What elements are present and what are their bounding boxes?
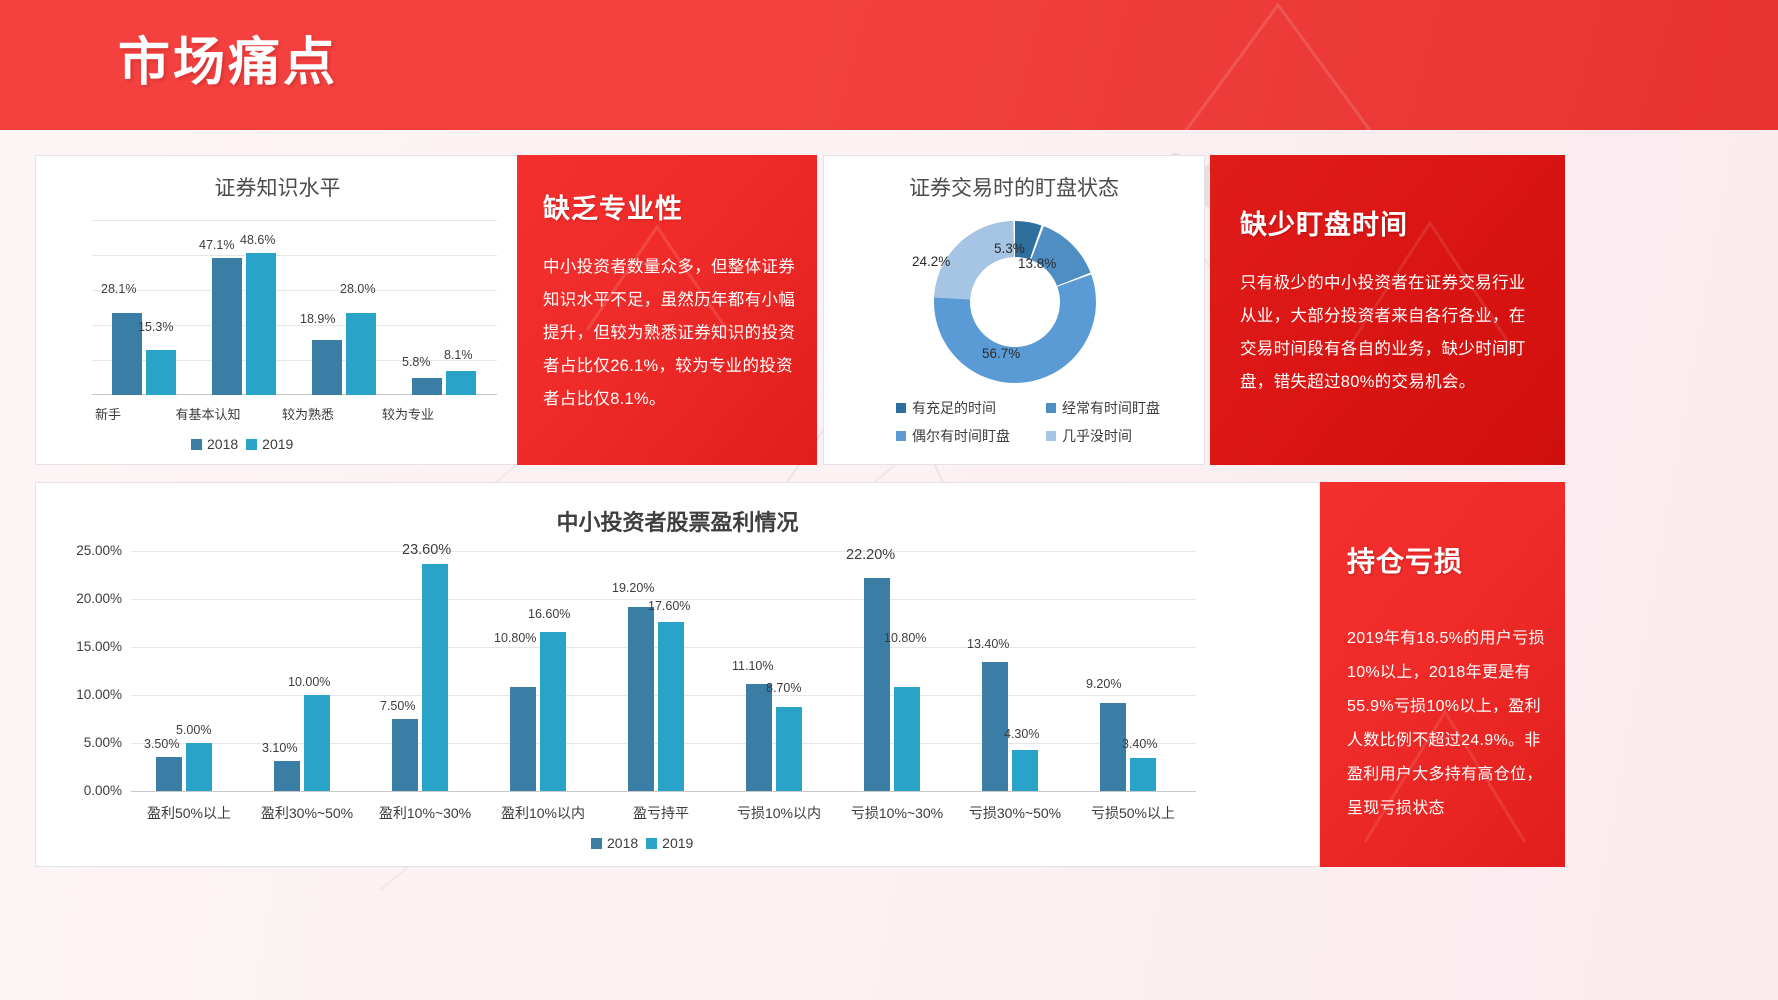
bar-2019 [246,253,276,395]
legend-swatch-icon [646,838,657,849]
bar-2018 [392,719,418,791]
bar-2018 [864,578,890,791]
panel-lack-professional: 缺乏专业性 中小投资者数量众多，但整体证券知识水平不足，虽然历年都有小幅提升，但… [517,155,817,465]
bar-label: 3.50% [144,737,179,751]
bar-label: 13.40% [967,637,1009,651]
legend-label: 2019 [662,835,693,851]
bar-label: 28.0% [340,282,375,296]
panel-title: 缺少盯盘时间 [1240,203,1408,242]
y-tick-label: 15.00% [46,639,122,654]
bar-2018 [156,757,182,791]
legend-label: 2018 [607,835,638,851]
panel-body: 中小投资者数量众多，但整体证券知识水平不足，虽然历年都有小幅提升，但较为熟悉证券… [543,251,801,416]
x-tick-label: 亏损10%以内 [720,803,838,823]
bar-label: 10.80% [494,631,536,645]
x-tick-label: 亏损30%~50% [956,803,1074,823]
bar-2019 [446,371,476,395]
x-tick-label: 有基本认知 [158,404,258,423]
legend-label: 经常有时间盯盘 [1062,398,1160,418]
chart-legend-profit-loss: 2018 2019 [591,835,693,851]
chart-legend-monitoring: 有充足的时间 经常有时间盯盘 偶尔有时间盯盘 几乎没时间 [896,398,1178,454]
bar-2019 [776,707,802,791]
x-tick-label: 盈利50%以上 [130,803,248,823]
legend-item-0[interactable]: 有充足的时间 [896,398,1028,418]
chart-card-monitoring-status: 证券交易时的盯盘状态 5.3% 13.8% 56.7% 24.2 [823,155,1205,465]
bar-2019 [346,313,376,395]
chart-title-profit-loss: 中小投资者股票盈利情况 [36,505,1319,537]
bar-2019 [1130,758,1156,791]
bar-2018 [746,684,772,791]
bar-label: 5.00% [176,723,211,737]
bar-2019 [304,695,330,791]
bar-2019 [186,743,212,791]
legend-item-3[interactable]: 几乎没时间 [1046,426,1178,446]
legend-swatch-icon [246,439,257,450]
bar-2019 [540,632,566,791]
x-tick-label: 新手 [58,404,158,423]
plot-area-profit-loss: 3.50% 5.00% 3.10% 10.00% 7.50% 23.60% 10… [131,551,1196,791]
bar-2018 [312,340,342,395]
x-tick-label: 亏损10%~30% [838,803,956,823]
bar-label: 19.20% [612,581,654,595]
chart-legend-knowledge: 2018 2019 [191,436,293,452]
legend-label: 有充足的时间 [912,398,996,418]
y-tick-label: 0.00% [46,783,122,798]
donut-value-label: 24.2% [912,254,950,269]
legend-item-2[interactable]: 偶尔有时间盯盘 [896,426,1028,446]
chart-title-knowledge: 证券知识水平 [36,172,519,202]
plot-area-knowledge: 28.1% 15.3% 47.1% 48.6% 18.9% 28.0% 5.8%… [92,220,497,395]
legend-label: 2019 [262,436,293,452]
x-tick-label: 盈利10%~30% [366,803,484,823]
x-tick-label: 较为专业 [358,404,458,423]
panel-body: 只有极少的中小投资者在证券交易行业从业，大部分投资者来自各行各业，在交易时间段有… [1240,267,1540,399]
bar-label: 47.1% [199,238,234,252]
y-tick-label: 5.00% [46,735,122,750]
legend-item-2018[interactable]: 2018 [191,436,238,452]
chart-card-profit-loss: 中小投资者股票盈利情况 3.50% 5.00% 3.10% 10.00% 7.5… [35,482,1320,867]
donut-chart-overlay [925,212,1105,392]
legend-swatch-icon [1046,431,1056,441]
legend-swatch-icon [591,838,602,849]
x-tick-label: 盈亏持平 [602,803,720,823]
donut-value-label: 56.7% [982,346,1020,361]
bar-2019 [894,687,920,791]
page-title: 市场痛点 [118,20,338,95]
legend-label: 几乎没时间 [1062,426,1132,446]
x-tick-label: 盈利10%以内 [484,803,602,823]
bar-label: 8.1% [444,348,473,362]
panel-lack-time: 缺少盯盘时间 只有极少的中小投资者在证券交易行业从业，大部分投资者来自各行各业，… [1210,155,1565,465]
legend-item-2019[interactable]: 2019 [246,436,293,452]
chart-card-knowledge-level: 证券知识水平 28.1% 15.3% 47.1% 48.6% 18.9% 28.… [35,155,520,465]
bar-2018 [510,687,536,791]
bar-label: 7.50% [380,699,415,713]
bar-2019 [1012,750,1038,791]
panel-title: 持仓亏损 [1347,540,1463,580]
chart-title-monitoring: 证券交易时的盯盘状态 [824,172,1204,202]
bar-label: 9.20% [1086,677,1121,691]
bar-label: 10.00% [288,675,330,689]
y-tick-label: 10.00% [46,687,122,702]
panel-position-loss: 持仓亏损 2019年有18.5%的用户亏损10%以上，2018年更是有55.9%… [1320,482,1565,867]
x-tick-label: 盈利30%~50% [248,803,366,823]
legend-swatch-icon [191,439,202,450]
bar-2018 [212,258,242,395]
bar-2018 [628,607,654,791]
donut-value-label: 5.3% [994,241,1025,256]
x-tick-label: 亏损50%以上 [1074,803,1192,823]
bar-label: 5.8% [402,355,431,369]
legend-swatch-icon [1046,403,1056,413]
legend-label: 偶尔有时间盯盘 [912,426,1010,446]
legend-label: 2018 [207,436,238,452]
bar-label: 3.10% [262,741,297,755]
bar-label: 15.3% [138,320,173,334]
bar-2018 [412,378,442,395]
donut-value-label: 13.8% [1018,256,1056,271]
panel-body: 2019年有18.5%的用户亏损10%以上，2018年更是有55.9%亏损10%… [1347,622,1547,826]
bar-label: 18.9% [300,312,335,326]
bar-label: 10.80% [884,631,926,645]
bar-2019 [422,564,448,791]
x-tick-label: 较为熟悉 [258,404,358,423]
y-tick-label: 25.00% [46,543,122,558]
bar-label: 8.70% [766,681,801,695]
header-decoration-icon [1128,0,1448,130]
bar-label: 17.60% [648,599,690,613]
bar-label: 3.40% [1122,737,1157,751]
bar-2019 [658,622,684,791]
legend-item-2018[interactable]: 2018 [591,835,638,851]
bar-label: 23.60% [402,542,451,558]
bar-label: 22.20% [846,547,895,563]
bar-label: 28.1% [101,282,136,296]
bar-label: 48.6% [240,233,275,247]
bar-label: 11.10% [732,659,773,673]
legend-swatch-icon [896,431,906,441]
legend-swatch-icon [896,403,906,413]
legend-item-1[interactable]: 经常有时间盯盘 [1046,398,1178,418]
legend-item-2019[interactable]: 2019 [646,835,693,851]
slide-root: 市场痛点 teerie teerie teerie 证券知识水平 28.1% [0,0,1778,1000]
bar-2018 [274,761,300,791]
bar-2019 [146,350,176,395]
slide-header: 市场痛点 [0,0,1778,130]
panel-title: 缺乏专业性 [543,187,683,226]
bar-label: 4.30% [1004,727,1039,741]
y-tick-label: 20.00% [46,591,122,606]
bar-label: 16.60% [528,607,570,621]
